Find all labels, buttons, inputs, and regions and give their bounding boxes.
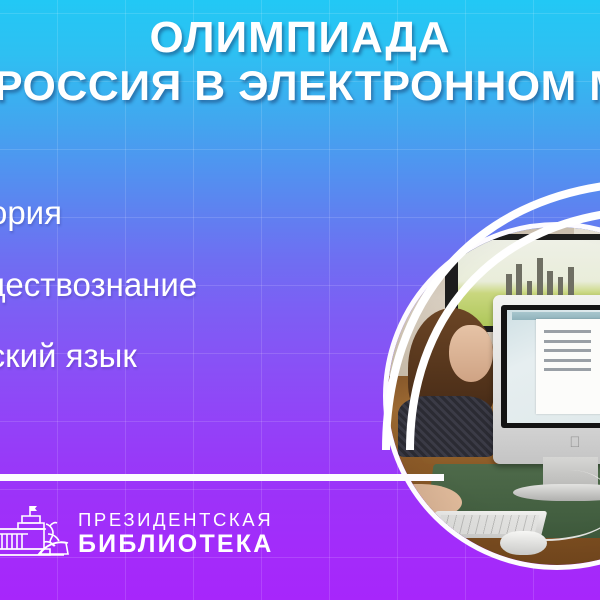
headline-line-2: РОССИЯ В ЭЛЕКТРОННОМ МИРЕ	[0, 65, 600, 108]
logo-line-2: БИБЛИОТЕКА	[78, 532, 274, 557]
photo-imac-bezel	[501, 305, 600, 428]
subject-list: История Обществознание Русский язык	[0, 196, 330, 411]
subject-item-social-studies: Обществознание	[0, 268, 330, 303]
presidential-library-building-icon	[0, 502, 70, 566]
headline-line-1: ОЛИМПИАДА	[0, 16, 600, 61]
logo-wordmark: ПРЕЗИДЕНТСКАЯ БИБЛИОТЕКА	[78, 511, 274, 558]
presidential-library-logo: ПРЕЗИДЕНТСКАЯ БИБЛИОТЕКА	[0, 502, 274, 566]
photo-cable-secondary	[540, 470, 600, 531]
photo-slide-graphic	[506, 255, 580, 295]
photo-student-blouse	[398, 396, 493, 457]
photo-mouse	[500, 531, 547, 555]
photo-student-face	[449, 325, 493, 382]
logo-line-1: ПРЕЗИДЕНТСКАЯ	[78, 511, 274, 530]
apple-logo-icon: 	[569, 436, 581, 450]
subject-item-russian-language: Русский язык	[0, 339, 330, 374]
subject-item-history: История	[0, 196, 330, 231]
poster-headline: ОЛИМПИАДА РОССИЯ В ЭЛЕКТРОННОМ МИРЕ	[0, 16, 600, 108]
white-divider-line	[0, 474, 444, 481]
poster-root:  ОЛИМПИАДА РОССИЯ В ЭЛЕКТРОННОМ МИРЕ Ис…	[0, 0, 600, 600]
student-at-imac-in-library-photo: 	[383, 222, 600, 570]
photo-imac-computer: 	[493, 295, 600, 464]
photo-inner: 	[388, 227, 600, 565]
photo-imac-document	[536, 319, 600, 414]
photo-imac-display	[507, 310, 600, 424]
